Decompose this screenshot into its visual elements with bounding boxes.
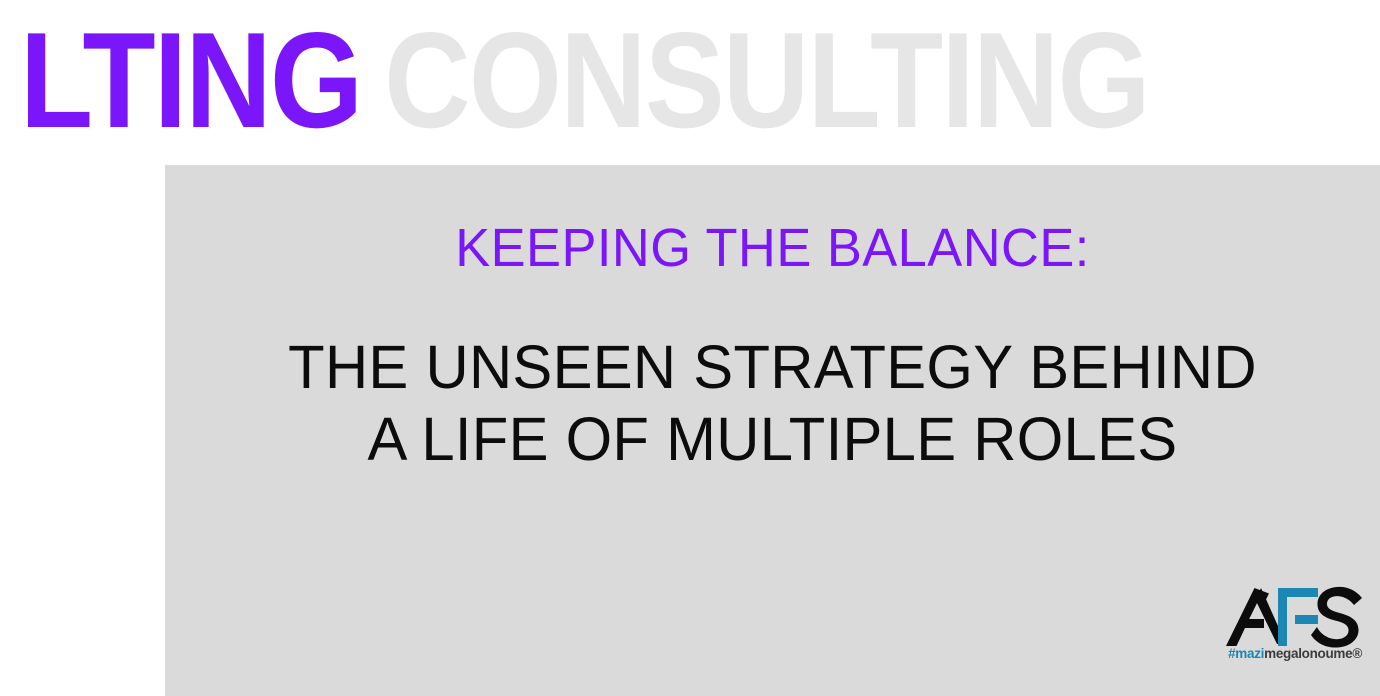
presentation-slide: LTINGCONSULTING CONSU KEEPING THE BALANC…	[0, 0, 1380, 696]
wordmark-grey-fragment: CONSULTING	[361, 4, 1149, 156]
afs-logo-tagline: #mazimegalonoume®	[1206, 646, 1366, 661]
headline-line-1: THE UNSEEN STRATEGY BEHIND	[236, 331, 1309, 403]
slide-headline: THE UNSEEN STRATEGY BEHIND A LIFE OF MUL…	[236, 279, 1309, 475]
background-wordmark-line: LTINGCONSULTING	[20, 12, 1149, 148]
tagline-word: megalonoume®	[1264, 646, 1362, 661]
afs-logo: #mazimegalonoume®	[1206, 586, 1366, 672]
background-wordmark-top: LTINGCONSULTING	[0, 0, 1380, 158]
background-wordmark-left: CONSU	[0, 150, 160, 696]
wordmark-purple-fragment: LTING	[20, 4, 361, 156]
headline-line-2: A LIFE OF MULTIPLE ROLES	[236, 403, 1309, 475]
content-panel: KEEPING THE BALANCE: THE UNSEEN STRATEGY…	[165, 165, 1380, 696]
slide-eyebrow: KEEPING THE BALANCE:	[241, 217, 1303, 279]
afs-logo-mark-icon	[1214, 586, 1366, 648]
content-panel-inner: KEEPING THE BALANCE: THE UNSEEN STRATEGY…	[165, 165, 1380, 696]
tagline-hashtag: #mazi	[1228, 646, 1264, 661]
